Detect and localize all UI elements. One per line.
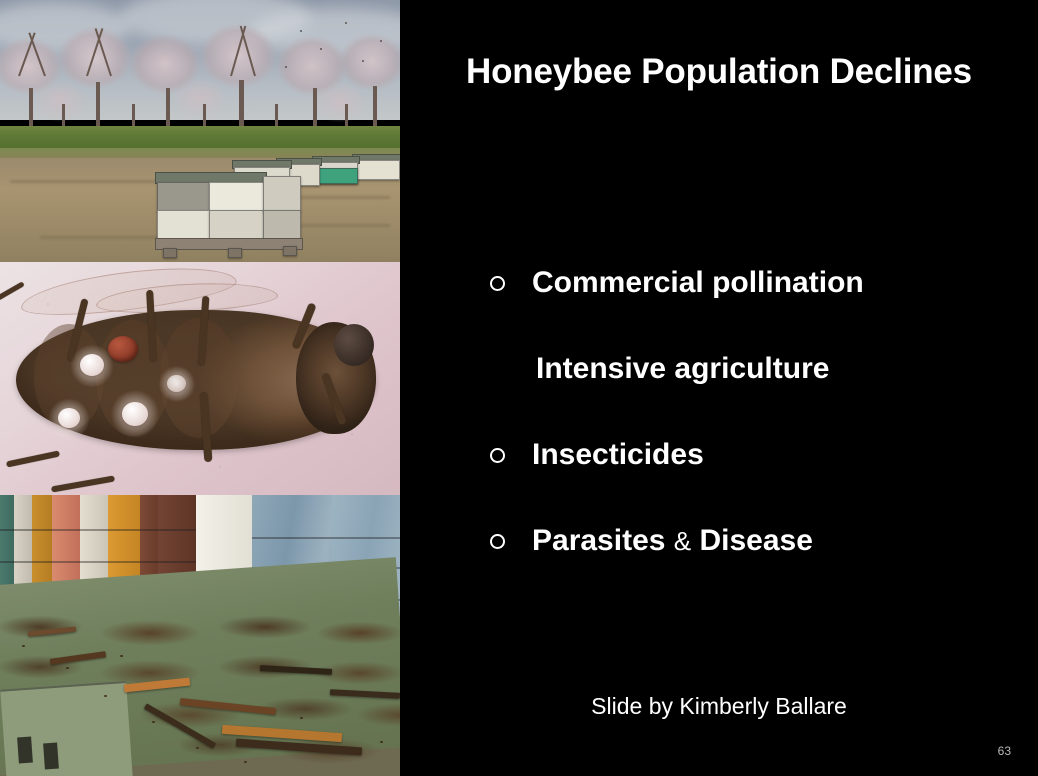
list-item: Commercial pollination	[490, 240, 1038, 326]
pale-mite	[167, 375, 186, 392]
hive-box	[209, 210, 265, 240]
list-item: Intensive agriculture	[490, 326, 1038, 412]
hive-box-green	[314, 168, 358, 184]
flying-bee	[380, 40, 382, 42]
list-item-label: Parasites & Disease	[532, 524, 813, 558]
presentation-slide: Honeybee Population Declines Commercial …	[0, 0, 1038, 776]
image-almond-orchard-with-beehives	[0, 0, 400, 262]
pale-mite	[58, 408, 80, 428]
pallet-foot	[228, 248, 242, 258]
pallet-foot	[283, 246, 297, 256]
dead-bee	[66, 667, 69, 669]
hive-box	[263, 210, 301, 240]
hive-slat	[0, 561, 196, 563]
image-dead-bees-at-colored-hives	[0, 495, 400, 776]
bullet-list: Commercial pollination Intensive agricul…	[490, 240, 1038, 584]
bee-eye	[334, 324, 374, 366]
tree-trunk	[239, 80, 244, 132]
dead-bee	[196, 747, 199, 749]
flying-bee	[285, 66, 287, 68]
pallet-foot	[163, 248, 177, 258]
hive-box	[209, 182, 265, 212]
list-item-label: Commercial pollination	[532, 266, 864, 300]
page-title: Honeybee Population Declines	[400, 52, 1038, 92]
dead-bee	[104, 695, 107, 697]
list-item-label: Intensive agriculture	[532, 352, 829, 386]
photo-column	[0, 0, 400, 776]
slide-credit: Slide by Kimberly Ballare	[400, 693, 1038, 720]
hive-box	[354, 160, 400, 180]
flying-bee	[362, 60, 364, 62]
flying-bee	[345, 22, 347, 24]
dead-bee	[22, 645, 25, 647]
hive-box	[157, 210, 211, 240]
open-circle-bullet-icon	[490, 534, 532, 549]
hive-box	[263, 176, 301, 212]
open-circle-bullet-icon	[490, 276, 532, 291]
ampersand-glyph: &	[674, 526, 691, 556]
dead-bee	[380, 741, 383, 743]
flying-bee	[320, 48, 322, 50]
open-circle-bullet-icon	[490, 448, 532, 463]
pale-mite	[122, 402, 148, 426]
image-honeybee-with-varroa-mites	[0, 262, 400, 495]
dead-bee	[120, 655, 123, 657]
list-item: Parasites & Disease	[490, 498, 1038, 584]
flying-bee	[300, 30, 302, 32]
hive-slat	[252, 537, 400, 539]
hive-slat	[0, 529, 196, 531]
hive-box	[157, 182, 211, 212]
slide-content-panel: Honeybee Population Declines Commercial …	[400, 0, 1038, 776]
dead-bee	[152, 721, 155, 723]
blossoming-trees	[0, 6, 400, 146]
list-item-label-before: Parasites	[532, 524, 674, 557]
dead-bee	[352, 691, 355, 693]
list-item: Insecticides	[490, 412, 1038, 498]
pale-mite	[80, 354, 104, 376]
list-item-label-after: Disease	[691, 524, 813, 557]
page-number: 63	[998, 744, 1011, 758]
dead-bee	[244, 761, 247, 763]
dead-bee	[300, 717, 303, 719]
platform-slot	[17, 737, 33, 764]
tree-trunk	[96, 82, 100, 132]
ground-streak	[10, 180, 160, 183]
list-item-label: Insecticides	[532, 438, 704, 472]
grass-row	[0, 126, 400, 148]
platform-slot	[43, 743, 59, 770]
